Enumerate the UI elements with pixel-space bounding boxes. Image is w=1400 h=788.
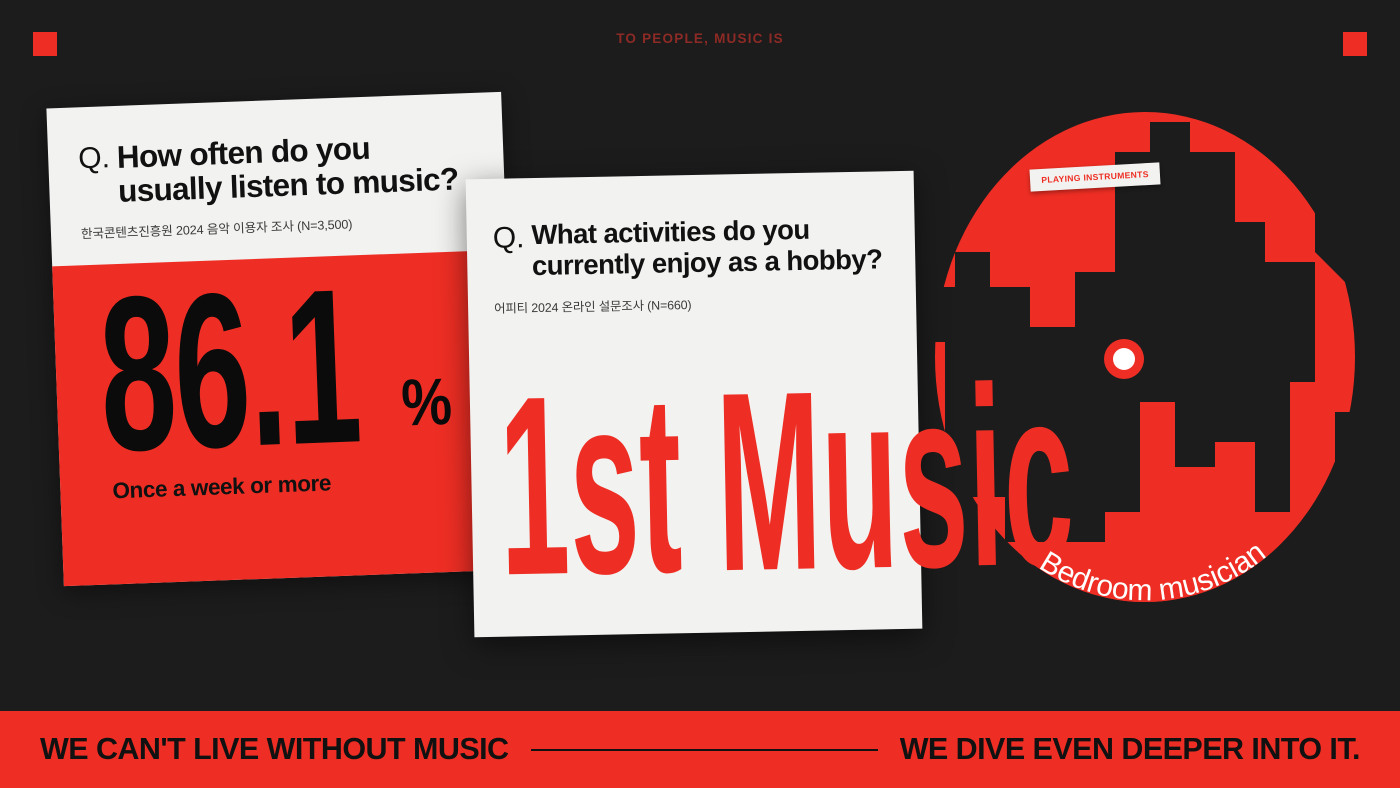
card1-header: Q. How often do you usually listen to mu… [46,92,506,244]
record-equalizer-top [935,112,1355,327]
footer-banner: WE CAN'T LIVE WITHOUT MUSIC WE DIVE EVEN… [0,711,1400,788]
top-kicker: TO PEOPLE, MUSIC IS [0,31,1400,46]
record-bottom-arc [935,542,1355,602]
card1-source-note: 한국콘텐츠진흥원 2024 음악 이용자 조사 (N=3,500) [81,209,476,242]
card1-stat-figure: 86.1 % [97,274,462,463]
card1-stat-number: 86.1 [97,277,362,462]
card1-q-mark: Q. [78,140,111,175]
playing-instruments-tag-label: PLAYING INSTRUMENTS [1041,169,1149,185]
stat-card-hobby: Q. What activities do you currently enjo… [466,171,923,638]
card1-question-title: How often do you usually listen to music… [116,127,475,208]
footer-left-text: WE CAN'T LIVE WITHOUT MUSIC [40,732,509,767]
vinyl-record-graphic [935,112,1355,602]
poster-canvas: TO PEOPLE, MUSIC IS Q. How often do you … [0,0,1400,788]
card1-question-line: Q. How often do you usually listen to mu… [78,127,475,210]
stat-card-listening-frequency: Q. How often do you usually listen to mu… [46,92,518,586]
card1-stat-unit: % [400,368,453,436]
record-left-block [935,342,945,442]
footer-right-text: WE DIVE EVEN DEEPER INTO IT. [900,732,1360,767]
card2-q-mark: Q. [492,220,524,254]
card2-question-title: What activities do you currently enjoy a… [531,213,889,281]
card1-stat-panel: 86.1 % Once a week or more [52,250,518,586]
footer-divider-rule [531,749,878,751]
card2-header: Q. What activities do you currently enjo… [466,171,917,317]
card2-source-note: 어피티 2024 온라인 설문조사 (N=660) [494,291,890,317]
record-center-hole [1113,348,1135,370]
card2-question-line: Q. What activities do you currently enjo… [492,213,889,282]
